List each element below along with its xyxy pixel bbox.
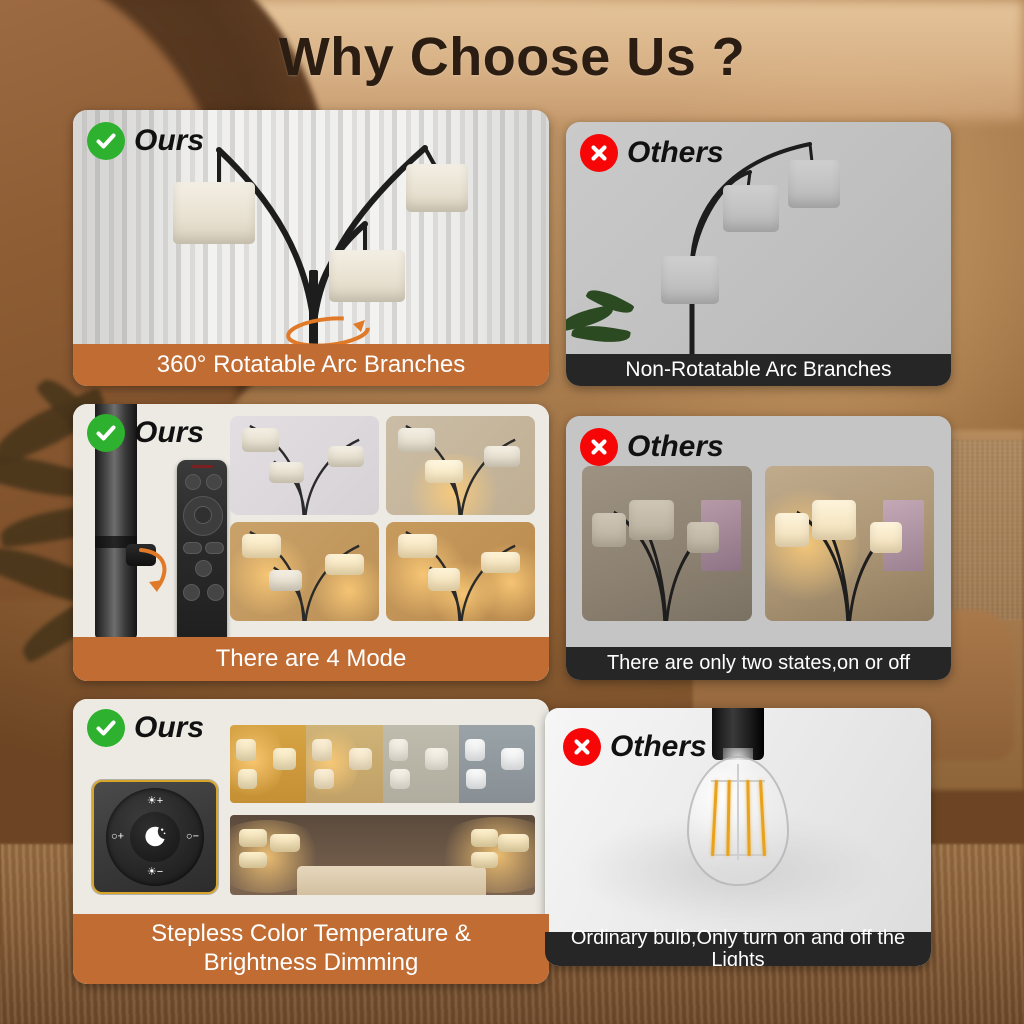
mode-thumbnail [230,522,379,621]
lamp-shade [173,182,255,244]
living-room-panorama [230,815,535,895]
comparison-card-others-states: Others There are only two states,on or o… [566,416,951,680]
mode-thumbnail [230,416,379,515]
mode-thumbnail [386,522,535,621]
temperature-sample [230,725,306,803]
remote-control [177,460,227,645]
temperature-sample [459,725,535,803]
check-circle-icon [87,709,125,747]
temperature-sample [383,725,459,803]
badge-others: Others [580,428,724,466]
cross-circle-icon [580,134,618,172]
lamp-shade [723,185,779,232]
caption-ours-modes: There are 4 Mode [73,637,549,681]
mode-thumbnail [386,416,535,515]
badge-ours: Ours [87,122,204,160]
state-photo-on [765,466,935,621]
brightness-up-label: ☀+ [147,796,163,807]
badge-label: Ours [134,713,204,743]
cross-circle-icon [563,728,601,766]
filament [726,780,730,856]
state-photo-off [582,466,752,621]
caption-line-2: Brightness Dimming [204,950,419,977]
caption-others-rotation: Non-Rotatable Arc Branches [566,354,951,386]
dimmer-dial-panel[interactable]: ☀+ ○+ ○− ☀− [92,780,218,894]
page-title: Why Choose Us ? [0,26,1024,88]
caption-ours-dimming: Stepless Color Temperature & Brightness … [73,914,549,984]
filament [759,780,766,856]
temperature-down-label: ○− [186,832,199,843]
badge-ours: Ours [87,709,204,747]
badge-label: Others [627,138,724,168]
badge-label: Others [610,732,707,762]
lamp-shade [661,256,719,304]
temperature-up-label: ○+ [111,832,124,843]
knob-turn-arrow-icon [135,544,179,600]
potted-plant [566,286,656,352]
badge-label: Ours [134,126,204,156]
cross-circle-icon [580,428,618,466]
lamp-shade [329,250,405,302]
temperature-sample [306,725,382,803]
badge-label: Others [627,432,724,462]
filament [711,780,718,856]
lamp-shade [406,164,468,212]
comparison-card-ours-dimming: ☀+ ○+ ○− ☀− [73,699,549,984]
badge-others: Others [580,134,724,172]
comparison-card-others-bulb: Others Ordinary bulb,Only turn on and of… [545,708,931,966]
caption-ours-rotation: 360° Rotatable Arc Branches [73,344,549,386]
filament [746,780,750,856]
caption-others-states: There are only two states,on or off [566,647,951,680]
badge-label: Ours [134,418,204,448]
dial-outer-ring[interactable]: ☀+ ○+ ○− ☀− [106,788,204,886]
badge-others: Others [563,728,707,766]
caption-line-1: Stepless Color Temperature & [151,921,471,948]
mode-thumbnail-grid [230,416,535,621]
lamp-shade [788,160,840,208]
comparison-card-others-rotation: Others Non-Rotatable Arc Branches [566,122,951,386]
check-circle-icon [87,414,125,452]
dial-center-button[interactable] [130,812,180,862]
moon-stars-icon [142,824,168,850]
caption-others-bulb: Ordinary bulb,Only turn on and off the L… [545,932,931,966]
comparison-card-ours-rotation: Ours 360° Rotatable Arc Branches [73,110,549,386]
badge-ours: Ours [87,414,204,452]
check-circle-icon [87,122,125,160]
color-temperature-strip [230,725,535,803]
brightness-down-label: ☀− [147,867,163,878]
comparison-card-ours-modes: Ours There are 4 Mode [73,404,549,681]
